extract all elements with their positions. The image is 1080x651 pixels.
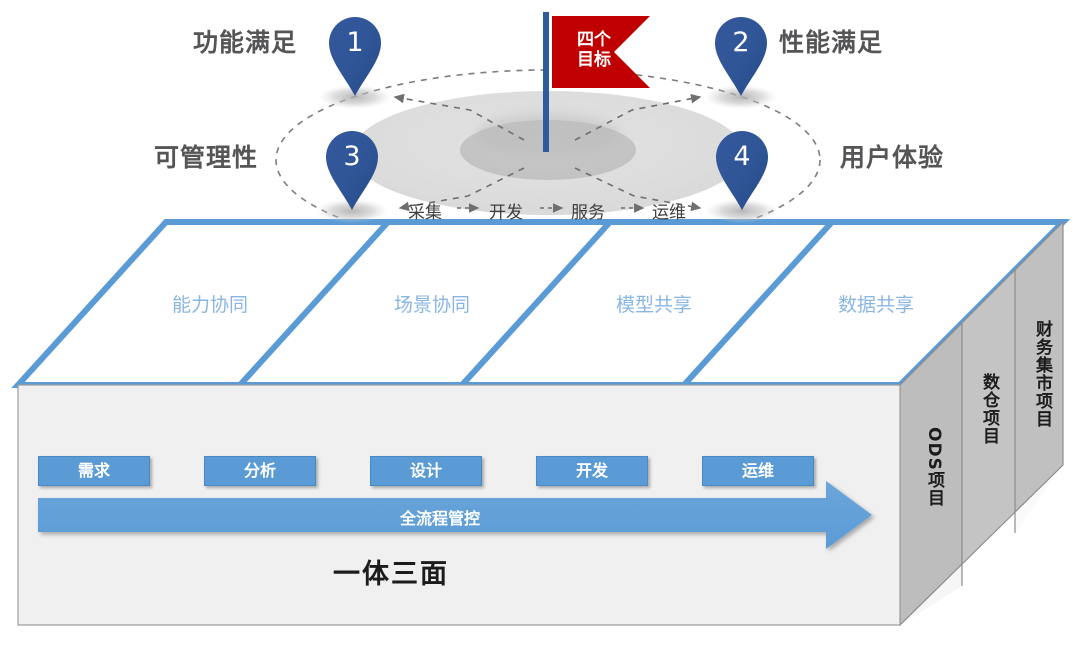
flow-step-1: 采集 xyxy=(408,198,442,223)
diagram-canvas: 功能满足 性能满足 可管理性 用户体验 1 2 3 4 四个 目标 采集 开发 … xyxy=(0,0,1080,651)
diagram-graphics xyxy=(0,0,1080,651)
flow-step-3: 服务 xyxy=(571,198,605,223)
top-panel-label-2[interactable]: 场景协同 xyxy=(362,290,502,317)
stage-button-analysis[interactable]: 分析 xyxy=(204,456,316,486)
goal-label-4: 用户体验 xyxy=(840,138,944,174)
goal-label-1: 功能满足 xyxy=(193,23,297,59)
flow-step-2: 开发 xyxy=(489,198,523,223)
goal-pin-number-2: 2 xyxy=(718,27,764,58)
top-panel-label-4[interactable]: 数据共享 xyxy=(806,290,946,317)
process-arrow-label: 全流程管控 xyxy=(330,505,550,529)
stage-button-development[interactable]: 开发 xyxy=(536,456,648,486)
goal-pin-number-3: 3 xyxy=(329,141,375,172)
goal-label-2: 性能满足 xyxy=(779,23,883,59)
top-panel-label-3[interactable]: 模型共享 xyxy=(584,290,724,317)
side-panel-label-fin[interactable]: 财务集市项目 xyxy=(1030,320,1055,428)
goal-pin-number-4: 4 xyxy=(719,141,765,172)
stage-button-requirement[interactable]: 需求 xyxy=(38,456,150,486)
top-panel-label-1[interactable]: 能力协同 xyxy=(140,290,280,317)
stage-button-design[interactable]: 设计 xyxy=(370,456,482,486)
flow-step-4: 运维 xyxy=(652,198,686,223)
side-panel-label-dw[interactable]: 数仓项目 xyxy=(977,373,1002,445)
flag-text-line2: 目标 xyxy=(563,50,625,70)
flag-text-line1: 四个 xyxy=(563,30,625,50)
side-panel-label-ods[interactable]: ODS项目 xyxy=(922,427,947,507)
stage-button-operations[interactable]: 运维 xyxy=(702,456,814,486)
goal-label-3: 可管理性 xyxy=(154,138,258,174)
goal-pin-number-1: 1 xyxy=(332,27,378,58)
base-title: 一体三面 xyxy=(333,552,449,591)
